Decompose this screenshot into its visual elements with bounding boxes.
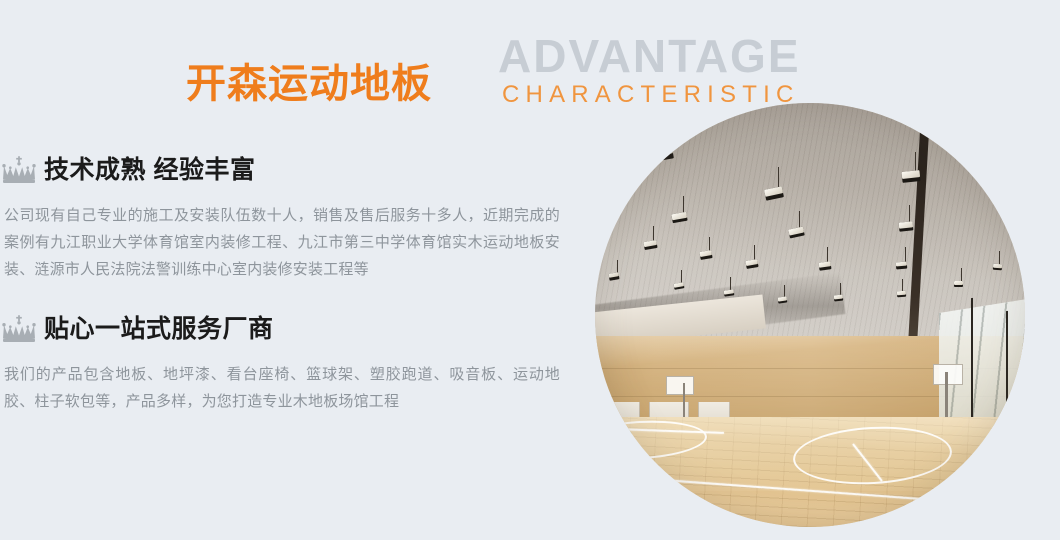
- crown-icon: [2, 156, 36, 184]
- crown-icon: [2, 315, 36, 343]
- banner-title-block: ADVANTAGE CHARACTERISTIC 开森运动地板: [186, 30, 866, 118]
- feature-heading-row: 技术成熟 经验丰富: [0, 152, 570, 188]
- ceiling-light: [902, 170, 921, 183]
- ceiling-light: [993, 264, 1002, 271]
- ceiling-light: [724, 289, 735, 296]
- banner-title-english-sub: CHARACTERISTIC: [502, 80, 801, 110]
- feature-list: 技术成熟 经验丰富 公司现有自己专业的施工及安装队伍数十人，销售及售后服务十多人…: [0, 152, 570, 415]
- feature-body: 公司现有自己专业的施工及安装队伍数十人，销售及售后服务十多人，近期完成的案例有九…: [0, 202, 570, 283]
- banner-title-english-main: ADVANTAGE: [498, 30, 801, 82]
- feature-body: 我们的产品包含地板、地坪漆、看台座椅、篮球架、塑胶跑道、吸音板、运动地胶、柱子软…: [0, 361, 570, 415]
- feature-heading-row: 贴心一站式服务厂商: [0, 311, 570, 347]
- feature-item: 贴心一站式服务厂商 我们的产品包含地板、地坪漆、看台座椅、篮球架、塑胶跑道、吸音…: [0, 311, 570, 415]
- ceiling-light: [609, 272, 620, 281]
- banner-title-chinese: 开森运动地板: [186, 60, 432, 108]
- feature-title: 贴心一站式服务厂商: [44, 314, 274, 344]
- ceiling-light: [954, 281, 963, 287]
- gym-photo-circle: [595, 103, 1025, 527]
- ceiling-light: [834, 295, 844, 302]
- glass-mullion: [1006, 311, 1008, 426]
- basketball-backboard: [666, 376, 694, 395]
- advantage-banner: ADVANTAGE CHARACTERISTIC 开森运动地板: [0, 0, 1060, 540]
- banner-title-english-group: ADVANTAGE CHARACTERISTIC: [498, 30, 801, 110]
- ceiling-light: [898, 221, 913, 231]
- ceiling-light: [896, 262, 908, 270]
- feature-item: 技术成熟 经验丰富 公司现有自己专业的施工及安装队伍数十人，销售及售后服务十多人…: [0, 152, 570, 283]
- ceiling-light: [818, 261, 831, 271]
- feature-title: 技术成熟 经验丰富: [44, 155, 255, 185]
- gym-photo-scene: [595, 103, 1025, 527]
- ceiling-light: [897, 291, 906, 298]
